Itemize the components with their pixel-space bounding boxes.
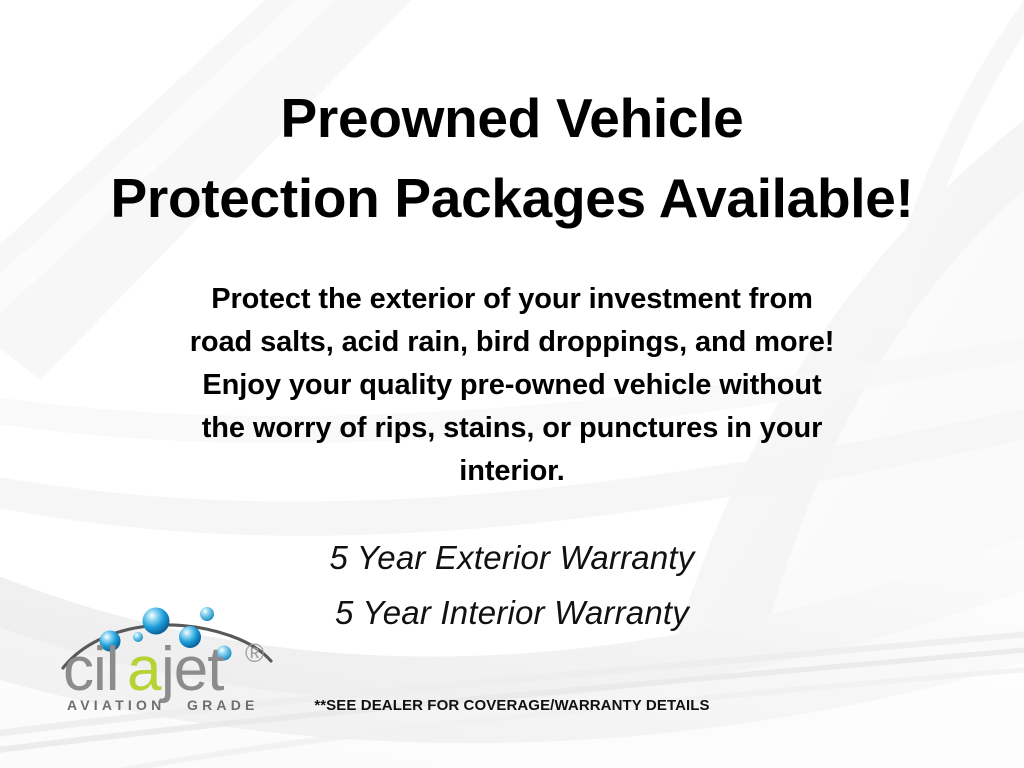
logo-wordmark-cil: cil bbox=[63, 635, 119, 704]
warranty-exterior: 5 Year Exterior Warranty bbox=[0, 530, 1024, 585]
logo-wordmark-jet: jet bbox=[159, 635, 224, 704]
logo-tagline-grade: GRADE bbox=[187, 697, 259, 713]
body-copy-line-2: road salts, acid rain, bird droppings, a… bbox=[0, 321, 1024, 364]
logo-bubble-large-left bbox=[143, 608, 170, 635]
logo-bubble-small-top bbox=[200, 607, 214, 621]
logo-tagline-aviation: AVIATION bbox=[67, 697, 165, 713]
body-copy: Protect the exterior of your investment … bbox=[0, 278, 1024, 493]
page-title-line-2: Protection Packages Available! bbox=[0, 158, 1024, 238]
body-copy-line-5: interior. bbox=[0, 450, 1024, 493]
logo-wordmark-a: a bbox=[127, 635, 162, 704]
body-copy-line-1: Protect the exterior of your investment … bbox=[0, 278, 1024, 321]
body-copy-line-3: Enjoy your quality pre-owned vehicle wit… bbox=[0, 364, 1024, 407]
logo-registered-icon: ® bbox=[245, 638, 264, 668]
page-title-line-1: Preowned Vehicle bbox=[0, 78, 1024, 158]
cilajet-logo: cil a jet ® AVIATION GRADE bbox=[55, 580, 295, 715]
body-copy-line-4: the worry of rips, stains, or punctures … bbox=[0, 407, 1024, 450]
slide-canvas: Preowned Vehicle Protection Packages Ava… bbox=[0, 0, 1024, 768]
page-title: Preowned Vehicle Protection Packages Ava… bbox=[0, 78, 1024, 238]
